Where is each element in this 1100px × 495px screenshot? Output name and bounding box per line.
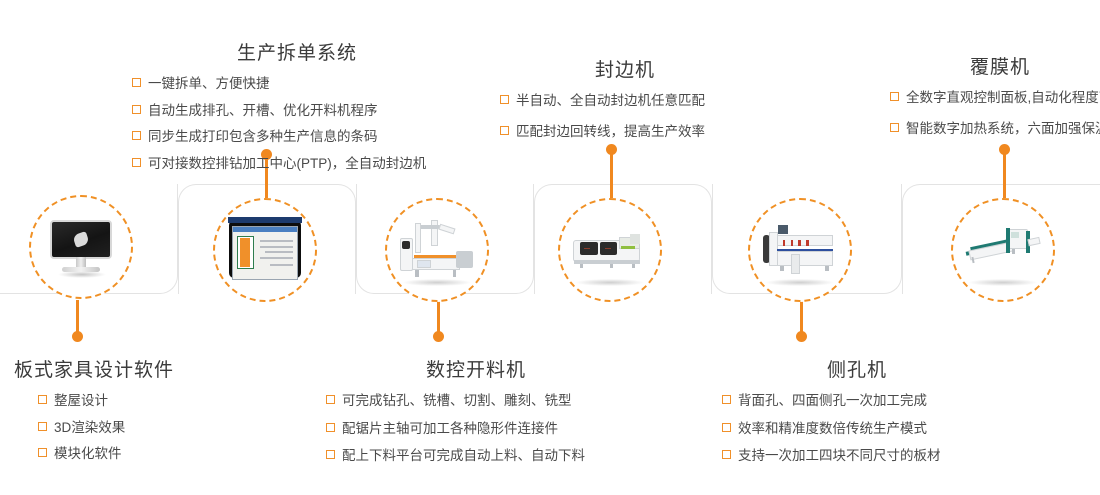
checkbox-icon [326,395,335,404]
list-item: 配锯片主轴可加工各种隐形件连接件 [326,419,626,439]
checkbox-icon [132,131,141,140]
checkbox-icon [132,78,141,87]
checkbox-icon [326,423,335,432]
bullet-text: 支持一次加工四块不同尺寸的板材 [738,446,941,466]
node-edge-banding-machine[interactable] [558,198,662,302]
list-item: 同步生成打印包含多种生产信息的条码 [132,127,462,147]
bullet-list-side-hole-machine: 背面孔、四面侧孔一次加工完成 效率和精准度数倍传统生产模式 支持一次加工四块不同… [722,391,1012,466]
connector-edge-banding-machine [610,148,613,198]
checkbox-icon [38,448,47,457]
list-item: 3D渲染效果 [38,418,234,438]
bullet-list-laminating-machine: 全数字直观控制面板,自动化程度高 智能数字加热系统，六面加强保温 [890,88,1100,138]
connector-side-hole-machine [800,300,803,338]
list-item: 支持一次加工四块不同尺寸的板材 [722,446,1012,466]
list-item: 背面孔、四面侧孔一次加工完成 [722,391,1012,411]
node-cnc-cutting-machine[interactable] [385,198,489,302]
bullet-text: 模块化软件 [54,444,122,464]
list-item: 整屋设计 [38,391,234,411]
bullet-list-edge-banding-machine: 半自动、全自动封边机任意匹配 匹配封边回转线，提高生产效率 [500,91,750,141]
bullet-text: 配上下料平台可完成自动上料、自动下料 [342,446,585,466]
list-item: 配上下料平台可完成自动上料、自动下料 [326,446,626,466]
bullet-text: 效率和精准度数倍传统生产模式 [738,419,927,439]
section-title-design-software: 板式家具设计软件 [14,355,234,382]
bullet-text: 匹配封边回转线，提高生产效率 [516,122,705,142]
bullet-text: 自动生成排孔、开槽、优化开料机程序 [148,101,378,121]
node-laminating-machine[interactable] [951,198,1055,302]
checkbox-icon [38,395,47,404]
text-block-design-software: 板式家具设计软件 整屋设计 3D渲染效果 模块化软件 [14,355,234,467]
node-production-split-order[interactable] [213,198,317,302]
connector-laminating-machine [1003,148,1006,198]
checkbox-icon [500,126,509,135]
list-item: 半自动、全自动封边机任意匹配 [500,91,750,111]
bullet-text: 整屋设计 [54,391,108,411]
bullet-list-cnc-cutting-machine: 可完成钻孔、铣槽、切割、雕刻、铣型 配锯片主轴可加工各种隐形件连接件 配上下料平… [326,391,626,466]
bullet-text: 一键拆单、方便快捷 [148,74,270,94]
process-flow-infographic: 生产拆单系统 一键拆单、方便快捷 自动生成排孔、开槽、优化开料机程序 同步生成打… [0,0,1100,495]
list-item: 全数字直观控制面板,自动化程度高 [890,88,1100,108]
bullet-text: 全数字直观控制面板,自动化程度高 [906,88,1100,108]
bullet-list-production-split-order: 一键拆单、方便快捷 自动生成排孔、开槽、优化开料机程序 同步生成打印包含多种生产… [132,74,462,173]
section-title-side-hole-machine: 侧孔机 [702,355,1012,382]
checkbox-icon [38,422,47,431]
section-title-edge-banding-machine: 封边机 [500,55,750,82]
cnc-router-icon [398,213,476,287]
list-item: 匹配封边回转线，提高生产效率 [500,122,750,142]
laminator-icon [964,213,1042,287]
checkbox-icon [890,123,899,132]
bullet-text: 3D渲染效果 [54,418,125,438]
imac-icon [42,210,120,284]
checkbox-icon [500,95,509,104]
bullet-text: 同步生成打印包含多种生产信息的条码 [148,127,378,147]
list-item: 一键拆单、方便快捷 [132,74,462,94]
tablet-software-icon [226,213,304,287]
list-item: 智能数字加热系统，六面加强保温 [890,119,1100,139]
checkbox-icon [132,105,141,114]
list-item: 效率和精准度数倍传统生产模式 [722,419,1012,439]
node-design-software[interactable] [29,195,133,299]
list-item: 自动生成排孔、开槽、优化开料机程序 [132,101,462,121]
node-side-hole-machine[interactable] [748,198,852,302]
bullet-text: 可对接数控排钻加工中心(PTP)，全自动封边机 [148,154,426,174]
section-title-cnc-cutting-machine: 数控开料机 [326,355,626,382]
bullet-text: 可完成钻孔、铣槽、切割、雕刻、铣型 [342,391,572,411]
checkbox-icon [722,450,731,459]
bullet-text: 配锯片主轴可加工各种隐形件连接件 [342,419,558,439]
checkbox-icon [722,395,731,404]
list-item: 可对接数控排钻加工中心(PTP)，全自动封边机 [132,154,462,174]
bullet-text: 智能数字加热系统，六面加强保温 [906,119,1100,139]
text-block-side-hole-machine: 侧孔机 背面孔、四面侧孔一次加工完成 效率和精准度数倍传统生产模式 支持一次加工… [722,355,1012,473]
bullet-list-design-software: 整屋设计 3D渲染效果 模块化软件 [38,391,234,464]
list-item: 模块化软件 [38,444,234,464]
text-block-laminating-machine: 覆膜机 全数字直观控制面板,自动化程度高 智能数字加热系统，六面加强保温 [890,52,1100,145]
edge-bander-icon [571,213,649,287]
checkbox-icon [326,450,335,459]
checkbox-icon [722,423,731,432]
checkbox-icon [132,158,141,167]
section-title-production-split-order: 生产拆单系统 [132,38,462,65]
connector-cnc-cutting-machine [437,300,440,338]
text-block-production-split-order: 生产拆单系统 一键拆单、方便快捷 自动生成排孔、开槽、优化开料机程序 同步生成打… [132,38,462,180]
section-title-laminating-machine: 覆膜机 [885,52,1100,79]
list-item: 可完成钻孔、铣槽、切割、雕刻、铣型 [326,391,626,411]
text-block-edge-banding-machine: 封边机 半自动、全自动封边机任意匹配 匹配封边回转线，提高生产效率 [500,55,750,148]
text-block-cnc-cutting-machine: 数控开料机 可完成钻孔、铣槽、切割、雕刻、铣型 配锯片主轴可加工各种隐形件连接件… [326,355,626,473]
bullet-text: 背面孔、四面侧孔一次加工完成 [738,391,927,411]
connector-design-software [76,300,79,338]
side-driller-icon [761,213,839,287]
bullet-text: 半自动、全自动封边机任意匹配 [516,91,705,111]
checkbox-icon [890,92,899,101]
